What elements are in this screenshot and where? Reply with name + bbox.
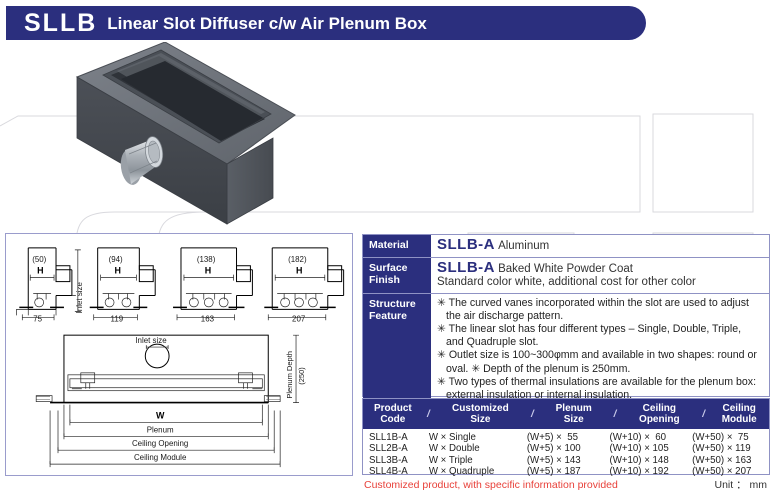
page-header-bar: SLLB Linear Slot Diffuser c/w Air Plenum… [6, 6, 646, 40]
inlet-size-label-section: Inlet size [75, 281, 84, 313]
cell-product-code: SLL3B-A [363, 455, 423, 466]
table-row: SLL3B-A W × Triple (W+5) × 143 (W+10) × … [363, 455, 769, 466]
col0-line2: Code [363, 414, 423, 426]
col3-line2: Opening [621, 414, 698, 426]
data-table-body: SLL1B-A W × Single (W+5) × 55 (W+10) × 6… [363, 429, 769, 478]
data-table-header-row: Product Code / Customized Size / Plenum … [363, 399, 769, 429]
cell-ceiling-module: (W+50) × 75 [692, 432, 769, 443]
customized-product-footnote: Customized product, with specific inform… [364, 479, 618, 492]
cell-ceiling-module: (W+50) × 119 [692, 443, 769, 454]
inlet-size-label-plan: Inlet size [135, 336, 167, 345]
section-view-1: (50) H 75 [16, 248, 76, 323]
section-view-3: (138) H 163 [173, 248, 252, 323]
material-text: Aluminum [498, 240, 549, 252]
spec-value-structure-feature: ✳ The curved vanes incorporated within t… [431, 294, 769, 406]
column-header-ceiling-module: Ceiling Module [709, 403, 769, 426]
dim-label-ceiling-opening: Ceiling Opening [132, 439, 188, 448]
cell-product-code: SLL4B-A [363, 466, 423, 477]
plan-elevation-view: Inlet size Plenum Depth (250) W Plenum C… [36, 335, 306, 467]
feature-bullet-1: ✳ The curved vanes incorporated within t… [437, 297, 763, 310]
feature-label-line1: Structure [369, 298, 416, 310]
cell-customized-size: W × Quadruple [423, 466, 527, 477]
svg-text:163: 163 [201, 314, 215, 323]
dim-label-ceiling-module: Ceiling Module [134, 453, 187, 462]
cell-ceiling-opening: (W+10) × 148 [609, 455, 692, 466]
feature-bullet-3-cont: oval. ✳ Depth of the plenum is 250mm. [437, 363, 763, 376]
column-header-customized-size: Customized Size [434, 403, 526, 426]
column-header-product-code: Product Code [363, 403, 423, 426]
finish-code: SLLB-A [437, 259, 495, 276]
header-separator-4: / [698, 409, 710, 420]
svg-text:H: H [37, 266, 43, 276]
svg-text:(50): (50) [32, 255, 46, 264]
header-separator-1: / [423, 409, 435, 420]
plenum-depth-label: Plenum Depth [285, 351, 294, 399]
cell-customized-size: W × Single [423, 432, 527, 443]
svg-text:(138): (138) [197, 255, 216, 264]
technical-drawing-panel: (50) H 75 Inlet size (94) H 119 (138) H … [5, 233, 353, 476]
material-code: SLLB-A [437, 236, 495, 253]
svg-text:119: 119 [111, 314, 124, 323]
surface-label-line2: Finish [369, 274, 400, 286]
dim-label-plenum: Plenum [147, 425, 174, 434]
dim-label-w: W [156, 410, 165, 420]
column-header-ceiling-opening: Ceiling Opening [621, 403, 698, 426]
header-separator-3: / [609, 409, 621, 420]
page-title: Linear Slot Diffuser c/w Air Plenum Box [107, 15, 427, 32]
finish-note: Standard color white, additional cost fo… [437, 276, 763, 290]
svg-text:(94): (94) [109, 255, 123, 264]
cell-customized-size: W × Double [423, 443, 527, 454]
spec-value-material: SLLB-A Aluminum [431, 235, 769, 257]
col0-line1: Product [363, 403, 423, 415]
specification-table: Material SLLB-A Aluminum Surface Finish … [362, 234, 770, 397]
cell-customized-size: W × Triple [423, 455, 527, 466]
cell-ceiling-opening: (W+10) × 105 [609, 443, 692, 454]
table-row: SLL4B-A W × Quadruple (W+5) × 187 (W+10)… [363, 466, 769, 477]
col1-line2: Size [434, 414, 526, 426]
cell-product-code: SLL1B-A [363, 432, 423, 443]
feature-bullet-1-cont: the air discharge pattern. [437, 310, 763, 323]
product-series-code: SLLB [24, 11, 97, 36]
feature-label-line2: Feature [369, 310, 407, 322]
feature-bullet-3: ✳ Outlet size is 100~300φmm and availabl… [437, 349, 763, 362]
cell-ceiling-module: (W+50) × 207 [692, 466, 769, 477]
section-view-2: (94) H 119 [90, 248, 155, 323]
table-row: SLL2B-A W × Double (W+5) × 100 (W+10) × … [363, 443, 769, 454]
product-illustration [55, 42, 400, 227]
product-data-table: Product Code / Customized Size / Plenum … [362, 398, 770, 475]
technical-drawing: (50) H 75 Inlet size (94) H 119 (138) H … [6, 234, 352, 475]
svg-text:207: 207 [292, 314, 305, 323]
spec-row-material: Material SLLB-A Aluminum [363, 235, 769, 258]
surface-label-line1: Surface [369, 262, 408, 274]
svg-text:(182): (182) [288, 255, 307, 264]
cell-ceiling-opening: (W+10) × 60 [609, 432, 692, 443]
col2-line2: Size [538, 414, 609, 426]
svg-text:75: 75 [33, 314, 42, 323]
cell-plenum-size: (W+5) × 100 [527, 443, 610, 454]
feature-bullet-2-cont: and Quadruple slot. [437, 336, 763, 349]
cell-ceiling-module: (W+50) × 163 [692, 455, 769, 466]
unit-note: Unit ： mm [715, 479, 768, 492]
spec-value-surface-finish: SLLB-A Baked White Powder Coat Standard … [431, 258, 769, 293]
section-view-4: (182) H 207 [264, 248, 343, 323]
svg-text:H: H [296, 266, 302, 276]
spec-label-structure-feature: Structure Feature [363, 294, 431, 406]
plenum-depth-value: (250) [297, 367, 306, 385]
svg-text:H: H [205, 266, 211, 276]
cell-plenum-size: (W+5) × 55 [527, 432, 610, 443]
column-header-plenum-size: Plenum Size [538, 403, 609, 426]
cell-ceiling-opening: (W+10) × 192 [609, 466, 692, 477]
col4-line1: Ceiling [709, 403, 769, 415]
col3-line1: Ceiling [621, 403, 698, 415]
finish-text: Baked White Powder Coat [498, 263, 633, 275]
feature-bullet-4: ✳ Two types of thermal insulations are a… [437, 376, 763, 389]
header-separator-2: / [527, 409, 539, 420]
feature-bullet-2: ✳ The linear slot has four different typ… [437, 323, 763, 336]
col1-line1: Customized [434, 403, 526, 415]
col4-line2: Module [709, 414, 769, 426]
spec-row-surface-finish: Surface Finish SLLB-A Baked White Powder… [363, 258, 769, 294]
spec-label-material: Material [363, 235, 431, 257]
col2-line1: Plenum [538, 403, 609, 415]
table-row: SLL1B-A W × Single (W+5) × 55 (W+10) × 6… [363, 432, 769, 443]
svg-text:H: H [115, 266, 121, 276]
cell-product-code: SLL2B-A [363, 443, 423, 454]
spec-label-surface-finish: Surface Finish [363, 258, 431, 293]
cell-plenum-size: (W+5) × 143 [527, 455, 610, 466]
spec-row-structure-feature: Structure Feature ✳ The curved vanes inc… [363, 294, 769, 406]
cell-plenum-size: (W+5) × 187 [527, 466, 610, 477]
